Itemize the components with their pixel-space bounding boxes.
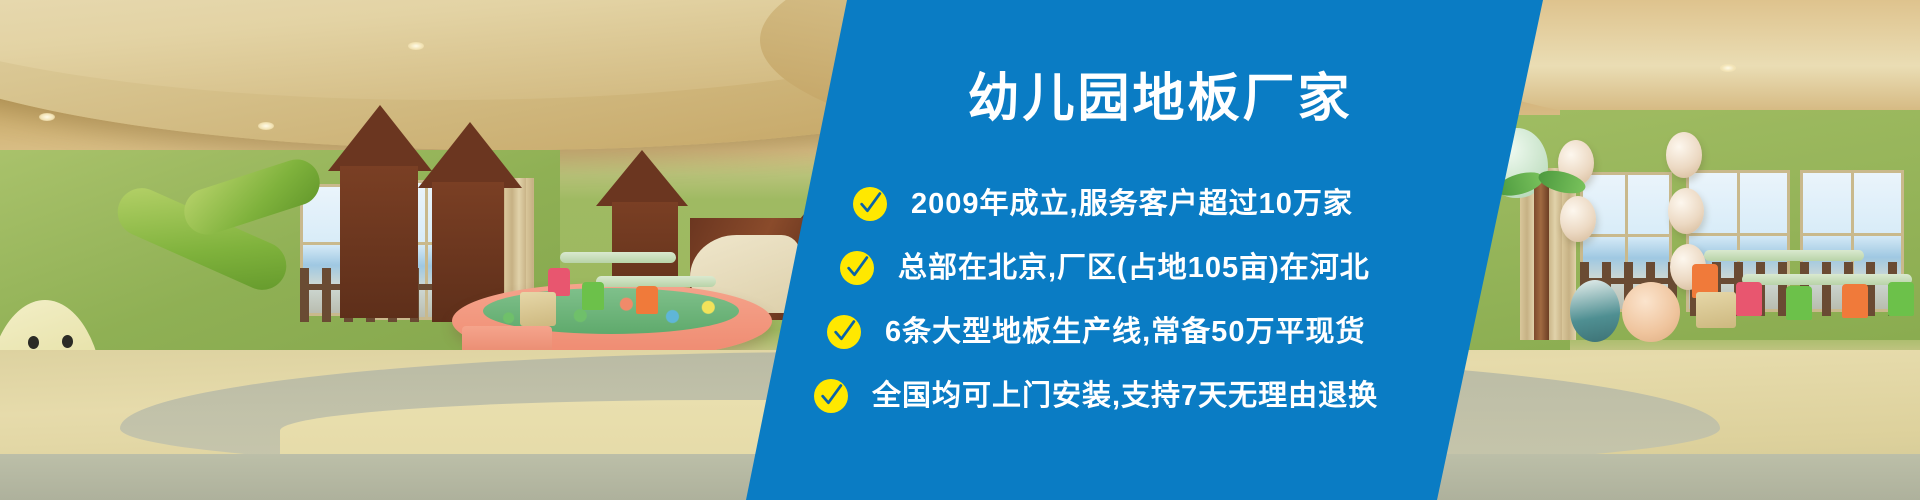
feature-item-label: 6条大型地板生产线,常备50万平现货 [885, 312, 1365, 352]
panel-content: 幼儿园地板厂家 2009年成立,服务客户超过10万家 总部在北京,厂区(占地10… [0, 0, 1920, 500]
check-circle-icon [853, 187, 887, 221]
feature-item: 全国均可上门安装,支持7天无理由退换 [814, 375, 1378, 417]
feature-item-label: 全国均可上门安装,支持7天无理由退换 [872, 376, 1378, 416]
promo-banner: 幼儿园地板厂家 2009年成立,服务客户超过10万家 总部在北京,厂区(占地10… [0, 0, 1920, 500]
feature-item: 总部在北京,厂区(占地105亩)在河北 [840, 247, 1370, 289]
banner-title: 幼儿园地板厂家 [780, 68, 1540, 130]
check-circle-icon [840, 251, 874, 285]
check-circle-icon [814, 379, 848, 413]
check-circle-icon [827, 315, 861, 349]
feature-item-label: 2009年成立,服务客户超过10万家 [911, 184, 1353, 224]
feature-item: 6条大型地板生产线,常备50万平现货 [827, 311, 1365, 353]
feature-item: 2009年成立,服务客户超过10万家 [853, 183, 1353, 225]
feature-item-label: 总部在北京,厂区(占地105亩)在河北 [898, 248, 1370, 288]
